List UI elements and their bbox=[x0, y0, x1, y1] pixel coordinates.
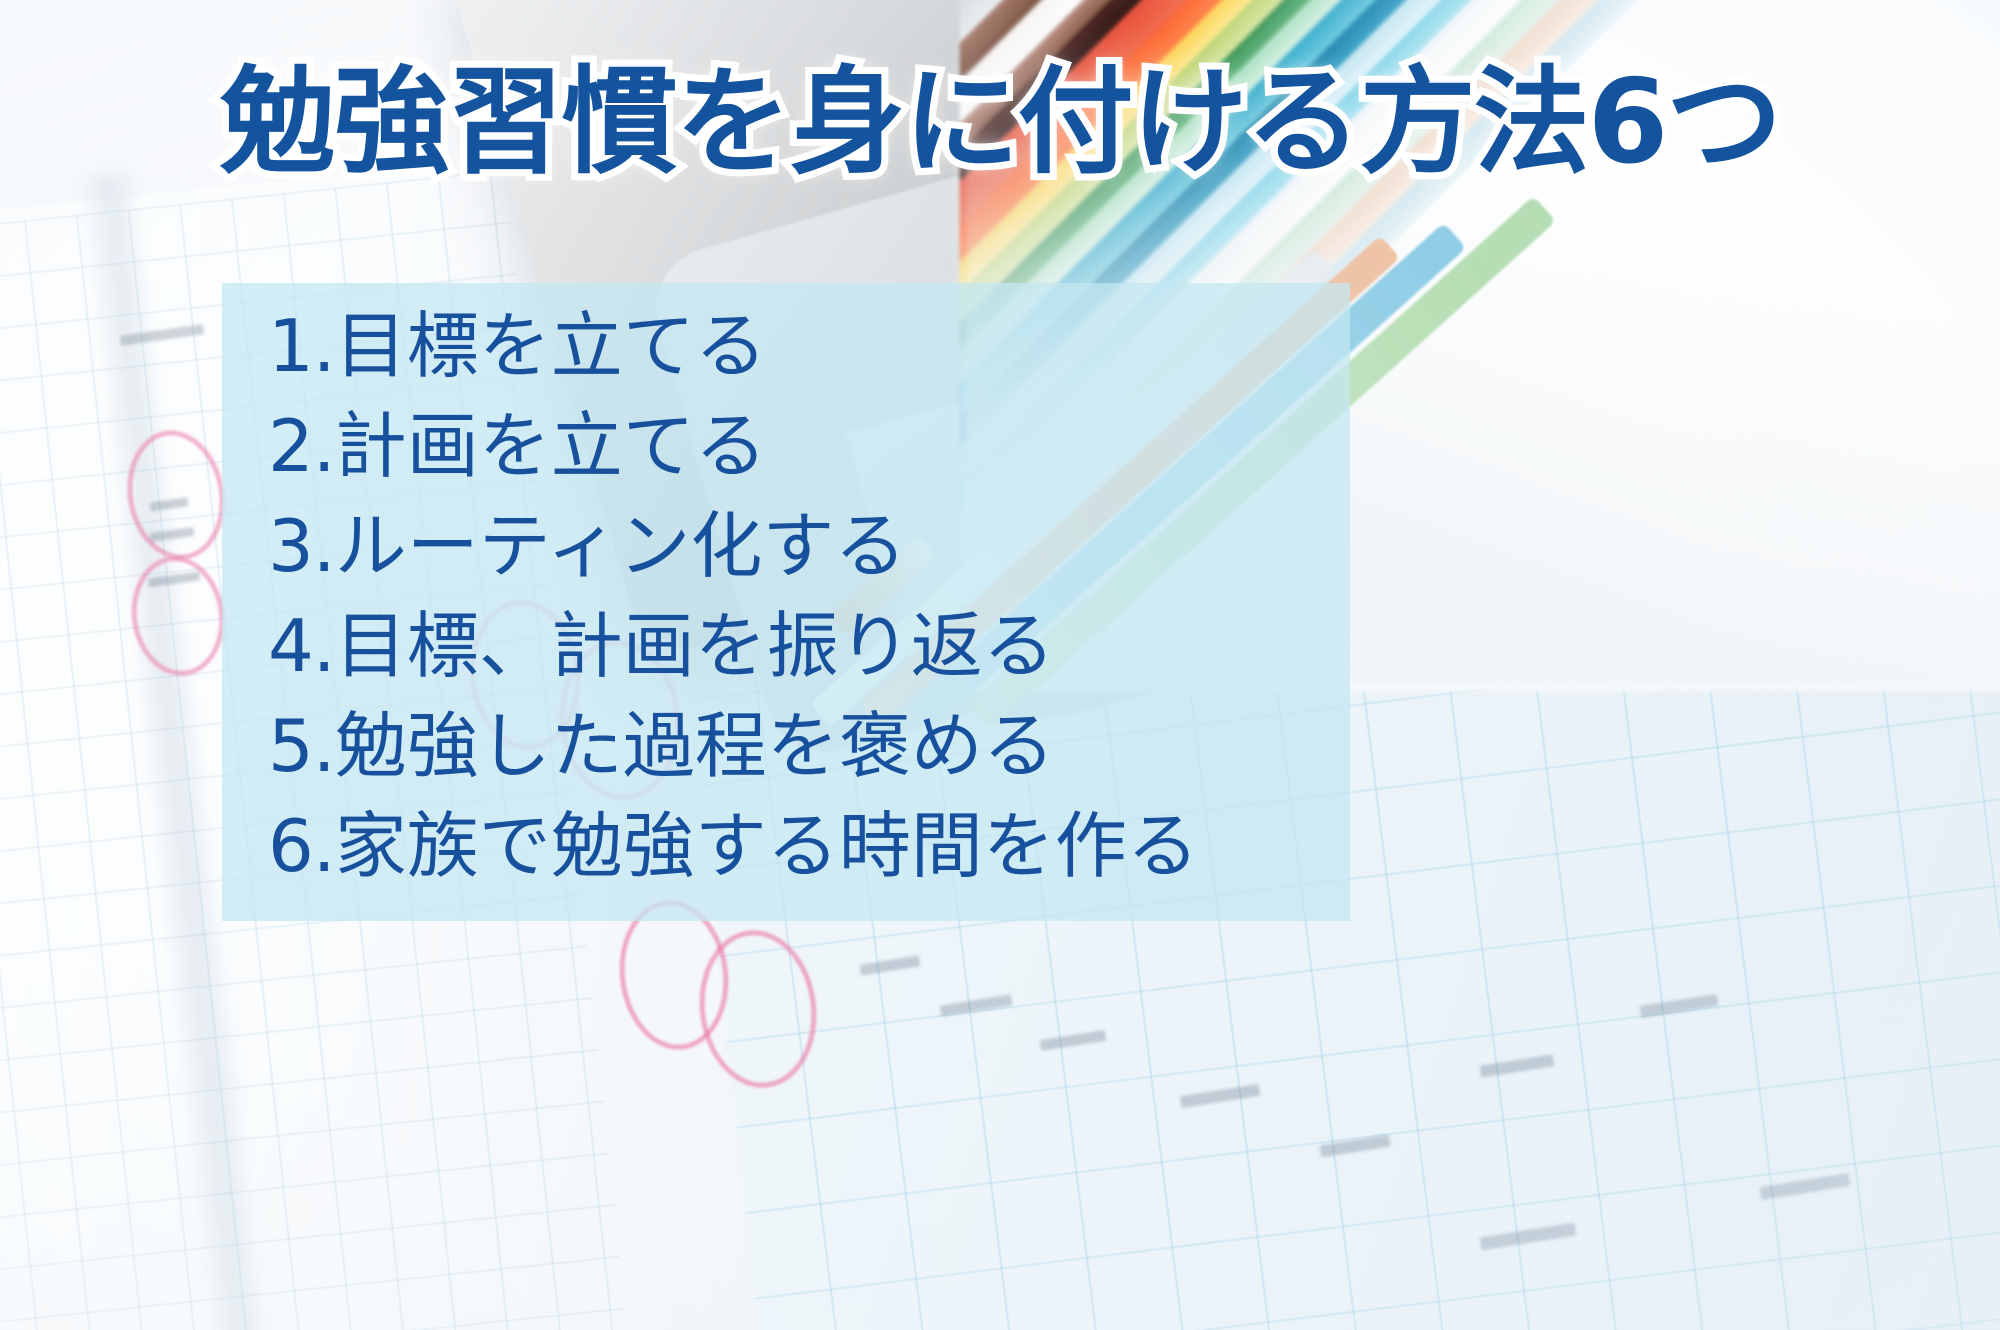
list-item-number: 2. bbox=[268, 404, 335, 488]
method-list: 1.目標を立てる 2.計画を立てる 3.ルーティン化する 4.目標、計画を振り返… bbox=[268, 296, 1398, 896]
list-item-number: 3. bbox=[268, 504, 335, 588]
list-item: 1.目標を立てる bbox=[268, 296, 1398, 396]
list-item-label: ルーティン化する bbox=[335, 504, 907, 588]
list-item: 3.ルーティン化する bbox=[268, 496, 1398, 596]
list-item-label: 勉強した過程を褒める bbox=[335, 704, 1055, 788]
list-item: 2.計画を立てる bbox=[268, 396, 1398, 496]
list-item: 6.家族で勉強する時間を作る bbox=[268, 796, 1398, 896]
list-item-number: 6. bbox=[268, 804, 335, 888]
list-item-number: 5. bbox=[268, 704, 335, 788]
list-item-number: 4. bbox=[268, 604, 335, 688]
list-item-label: 目標を立てる bbox=[335, 304, 767, 388]
list-item-label: 目標、計画を振り返る bbox=[335, 604, 1055, 688]
list-item-label: 計画を立てる bbox=[335, 404, 767, 488]
list-item-label: 家族で勉強する時間を作る bbox=[335, 804, 1199, 888]
page-title: 勉強習慣を身に付ける方法6つ bbox=[0, 62, 2000, 184]
list-item-number: 1. bbox=[268, 304, 335, 388]
list-item: 4.目標、計画を振り返る bbox=[268, 596, 1398, 696]
list-item: 5.勉強した過程を褒める bbox=[268, 696, 1398, 796]
slide-canvas: 勉強習慣を身に付ける方法6つ 1.目標を立てる 2.計画を立てる 3.ルーティン… bbox=[0, 0, 2000, 1330]
